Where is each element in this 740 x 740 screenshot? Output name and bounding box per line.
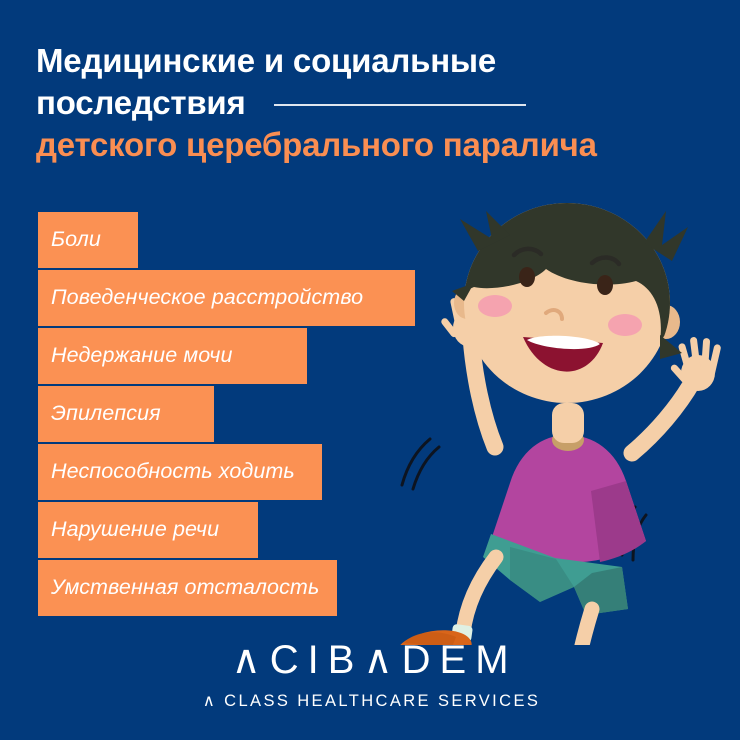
right-eye xyxy=(597,275,613,295)
list-item: Умственная отсталость xyxy=(38,560,337,616)
headline-line-3: детского церебрального паралича xyxy=(36,124,716,166)
left-eye xyxy=(519,267,535,287)
list-item: Недержание мочи xyxy=(38,328,307,384)
brand-tagline: ∧ CLASS HEALTHCARE SERVICES xyxy=(0,693,740,710)
bar-label: Эпилепсия xyxy=(51,403,161,425)
shirt xyxy=(492,429,646,563)
headline-block: Медицинские и социальные последствия дет… xyxy=(36,40,716,166)
happy-jumping-boy-illustration xyxy=(360,185,740,645)
bar-label: Недержание мочи xyxy=(51,345,233,367)
bar-label: Боли xyxy=(51,229,101,251)
bar-label: Нарушение речи xyxy=(51,519,219,541)
bar-label: Неспособность ходить xyxy=(51,461,295,483)
head xyxy=(452,193,688,403)
list-item: Эпилепсия xyxy=(38,386,214,442)
consequences-bar-list: Боли Поведенческое расстройство Недержан… xyxy=(38,212,415,618)
neck xyxy=(552,403,584,443)
list-item: Нарушение речи xyxy=(38,502,258,558)
headline-line-1: Медицинские и социальные xyxy=(36,40,716,82)
brand-logo: ∧CIB∧DEM ∧ CLASS HEALTHCARE SERVICES xyxy=(0,640,740,710)
brand-name: ∧CIB∧DEM xyxy=(222,640,517,680)
list-item: Поведенческое расстройство xyxy=(38,270,415,326)
headline-line-2: последствия xyxy=(36,82,246,124)
bar-label: Поведенческое расстройство xyxy=(51,287,363,309)
list-item: Неспособность ходить xyxy=(38,444,322,500)
infographic-poster: Медицинские и социальные последствия дет… xyxy=(0,0,740,740)
right-hand xyxy=(669,337,721,391)
headline-divider xyxy=(274,104,526,106)
list-item: Боли xyxy=(38,212,138,268)
headline-row-2: последствия xyxy=(36,82,716,124)
brand-name-text: ∧CIB∧DEM xyxy=(231,638,517,682)
right-cheek xyxy=(608,314,642,336)
left-cheek xyxy=(478,295,512,317)
bar-label: Умственная отсталость xyxy=(51,577,319,599)
